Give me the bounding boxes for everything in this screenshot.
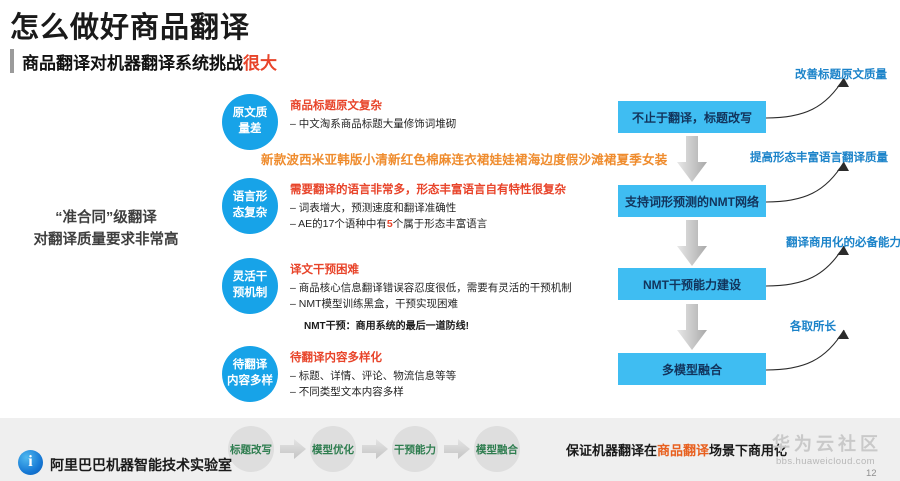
challenge-bullet-2-0: – 词表增大，预测速度和翻译准确性 (290, 200, 566, 216)
challenge-row-4: 待翻译 内容多样 待翻译内容多样化 – 标题、详情、评论、物流信息等等 – 不同… (222, 346, 456, 402)
watermark-brand: 华为云社区 (772, 430, 882, 456)
step-arrow-1 (280, 439, 306, 459)
strip-text-before: 保证机器翻译在 (566, 443, 657, 458)
subtitle-accent-bar (10, 49, 14, 73)
subtitle-block: 商品翻译对机器翻译系统挑战很大 (10, 48, 277, 74)
bubble-line-4a: 待翻译 (233, 358, 268, 374)
challenge-head-3: 译文干预困难 (290, 261, 572, 277)
flow-arrow-down-1 (677, 136, 707, 182)
flow-box-2: 支持词形预测的NMT网络 (618, 185, 766, 217)
challenge-head-2: 需要翻译的语言非常多，形态丰富语言自有特性很复杂 (290, 181, 566, 197)
challenge-body-4: 待翻译内容多样化 – 标题、详情、评论、物流信息等等 – 不同类型文本内容多样 (290, 346, 456, 401)
step-circle-2: 模型优化 (310, 426, 356, 472)
challenge-bubble-4: 待翻译 内容多样 (222, 346, 278, 402)
challenge-body-2: 需要翻译的语言非常多，形态丰富语言自有特性很复杂 – 词表增大，预测速度和翻译准… (290, 178, 566, 233)
subtitle: 商品翻译对机器翻译系统挑战很大 (22, 49, 277, 74)
example-title-text: 新款波西米亚韩版小清新红色棉麻连衣裙娃娃裙海边度假沙滩裙夏季女装 (261, 149, 667, 168)
step-circle-3: 干预能力 (392, 426, 438, 472)
alibaba-logo-icon: i (18, 450, 43, 475)
strip-summary-text: 保证机器翻译在商品翻译场景下商用化 (566, 440, 787, 459)
watermark-url: bbs.huaweicloud.com (776, 456, 875, 467)
bubble-line-4b: 内容多样 (227, 374, 273, 390)
flow-note-3: 翻译商用化的必备能力 (786, 234, 900, 250)
flow-box-1: 不止于翻译，标题改写 (618, 101, 766, 133)
left-caption-line2: 对翻译质量要求非常高 (8, 230, 204, 252)
left-caption-line1: “准合同”级翻译 (8, 208, 204, 230)
left-caption: “准合同”级翻译 对翻译质量要求非常高 (8, 208, 204, 252)
step-arrow-2 (362, 439, 388, 459)
challenge-head-1: 商品标题原文复杂 (290, 97, 456, 113)
challenge-row-2: 语言形 态复杂 需要翻译的语言非常多，形态丰富语言自有特性很复杂 – 词表增大，… (222, 178, 566, 234)
bullet-highlight-number: 5 (387, 218, 393, 230)
challenge-bullet-4-1: – 不同类型文本内容多样 (290, 384, 456, 400)
challenge-head-4: 待翻译内容多样化 (290, 349, 456, 365)
flow-box-3: NMT干预能力建设 (618, 268, 766, 300)
bubble-line-1b: 量差 (239, 122, 262, 138)
challenge-bullet-2-1: – AE的17个语种中有5个属于形态丰富语言 (290, 216, 566, 232)
slide-canvas: 怎么做好商品翻译 商品翻译对机器翻译系统挑战很大 “准合同”级翻译 对翻译质量要… (0, 0, 900, 481)
challenge-bullet-3-1: – NMT模型训练黑盒，干预实现困难 (290, 296, 572, 312)
strip-text-highlight: 商品翻译 (657, 443, 709, 458)
challenge-bullet-3-0: – 商品核心信息翻译错误容忍度很低，需要有灵活的干预机制 (290, 280, 572, 296)
step-circle-1: 标题改写 (228, 426, 274, 472)
challenge-row-1: 原文质 量差 商品标题原文复杂 – 中文淘系商品标题大量修饰词堆砌 (222, 94, 456, 150)
flow-note-1: 改善标题原文质量 (795, 66, 887, 82)
flow-arrow-down-2 (677, 220, 707, 266)
step-circle-4: 模型融合 (474, 426, 520, 472)
challenge-bubble-3: 灵活干 预机制 (222, 258, 278, 314)
flow-note-2: 提高形态丰富语言翻译质量 (750, 149, 888, 165)
flow-note-4: 各取所长 (790, 318, 836, 334)
page-title: 怎么做好商品翻译 (10, 4, 250, 46)
challenge-bullet-1-0: – 中文淘系商品标题大量修饰词堆砌 (290, 116, 456, 132)
page-number: 12 (866, 468, 877, 479)
flow-box-4: 多模型融合 (618, 353, 766, 385)
flow-arrow-down-3 (677, 304, 707, 350)
bubble-line-2a: 语言形 (233, 190, 268, 206)
challenge-bubble-1: 原文质 量差 (222, 94, 278, 150)
bubble-line-3a: 灵活干 (233, 270, 268, 286)
bubble-line-2b: 态复杂 (233, 206, 268, 222)
challenge-body-3: 译文干预困难 – 商品核心信息翻译错误容忍度很低，需要有灵活的干预机制 – NM… (290, 258, 572, 332)
subtitle-accent: 很大 (243, 54, 277, 73)
step-arrow-3 (444, 439, 470, 459)
challenge-bubble-2: 语言形 态复杂 (222, 178, 278, 234)
organization-name: 阿里巴巴机器智能技术实验室 (50, 455, 232, 475)
challenge-note-3: NMT干预：商用系统的最后一道防线! (304, 317, 572, 332)
bubble-line-3b: 预机制 (233, 286, 268, 302)
subtitle-main: 商品翻译对机器翻译系统挑战 (22, 54, 243, 73)
bubble-line-1a: 原文质 (233, 106, 268, 122)
challenge-row-3: 灵活干 预机制 译文干预困难 – 商品核心信息翻译错误容忍度很低，需要有灵活的干… (222, 258, 572, 332)
challenge-bullet-4-0: – 标题、详情、评论、物流信息等等 (290, 368, 456, 384)
logo-glyph: i (18, 453, 43, 471)
challenge-body-1: 商品标题原文复杂 – 中文淘系商品标题大量修饰词堆砌 (290, 94, 456, 132)
